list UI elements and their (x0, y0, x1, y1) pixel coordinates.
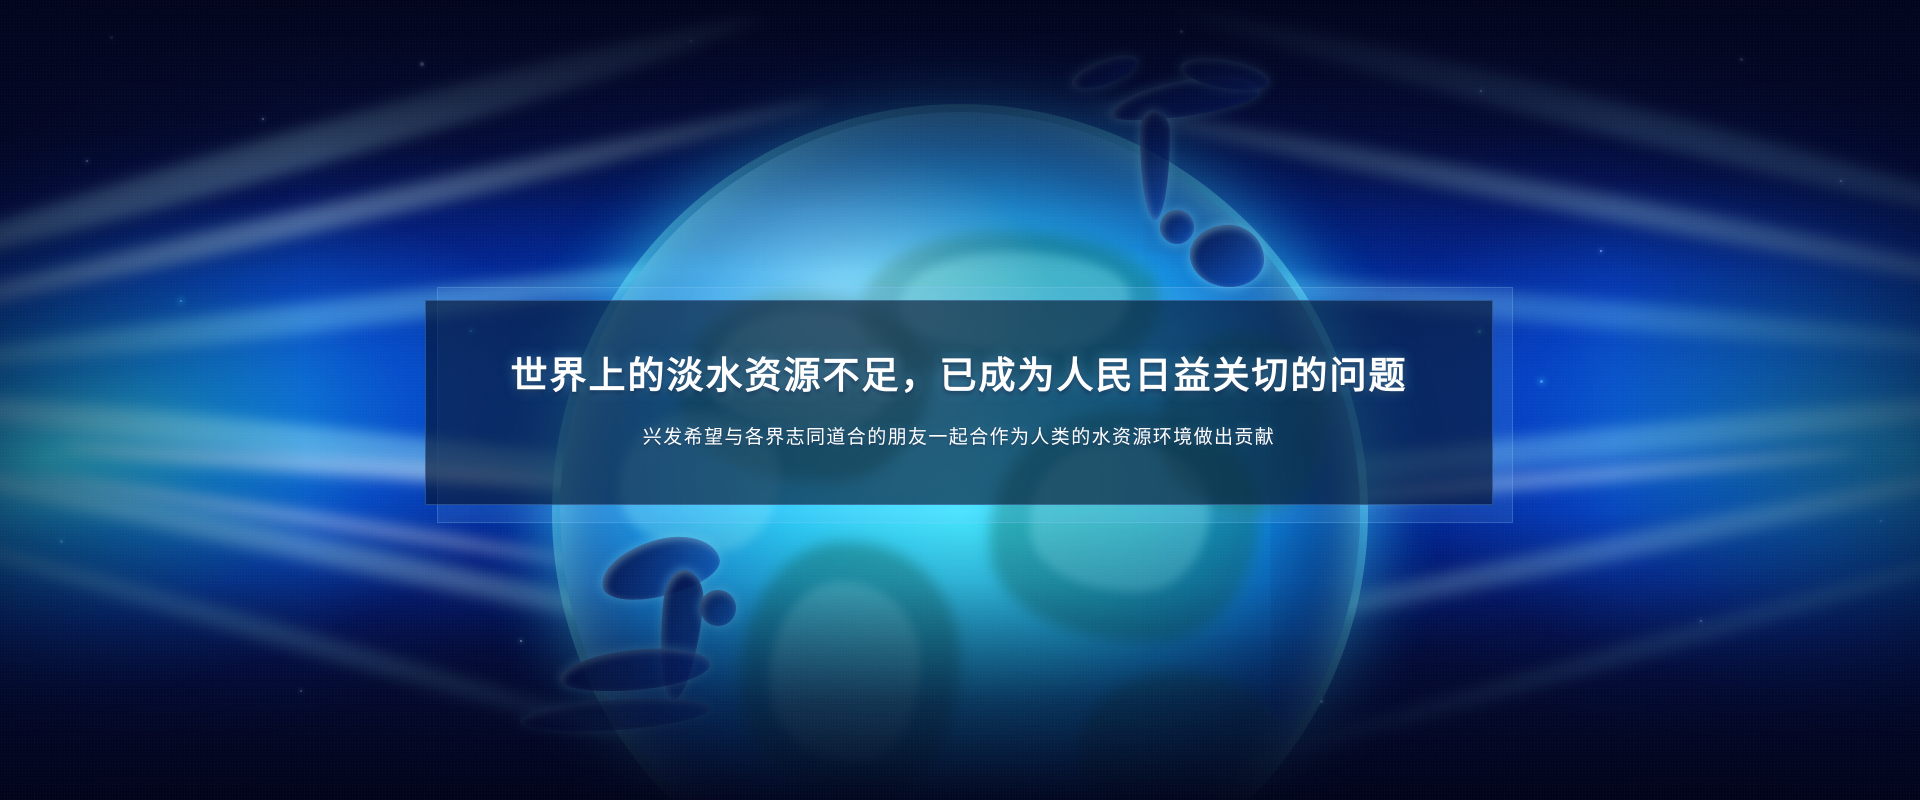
page-subtitle: 兴发希望与各界志同道合的朋友一起合作为人类的水资源环境做出贡献 (643, 425, 1275, 452)
vignette-left (0, 0, 307, 800)
water-resources-banner: 世界上的淡水资源不足，已成为人民日益关切的问题 兴发希望与各界志同道合的朋友一起… (0, 0, 1920, 800)
page-title: 世界上的淡水资源不足，已成为人民日益关切的问题 (511, 353, 1408, 399)
headline-plate: 世界上的淡水资源不足，已成为人民日益关切的问题 兴发希望与各界志同道合的朋友一起… (425, 300, 1493, 505)
vignette-right (1613, 0, 1920, 800)
